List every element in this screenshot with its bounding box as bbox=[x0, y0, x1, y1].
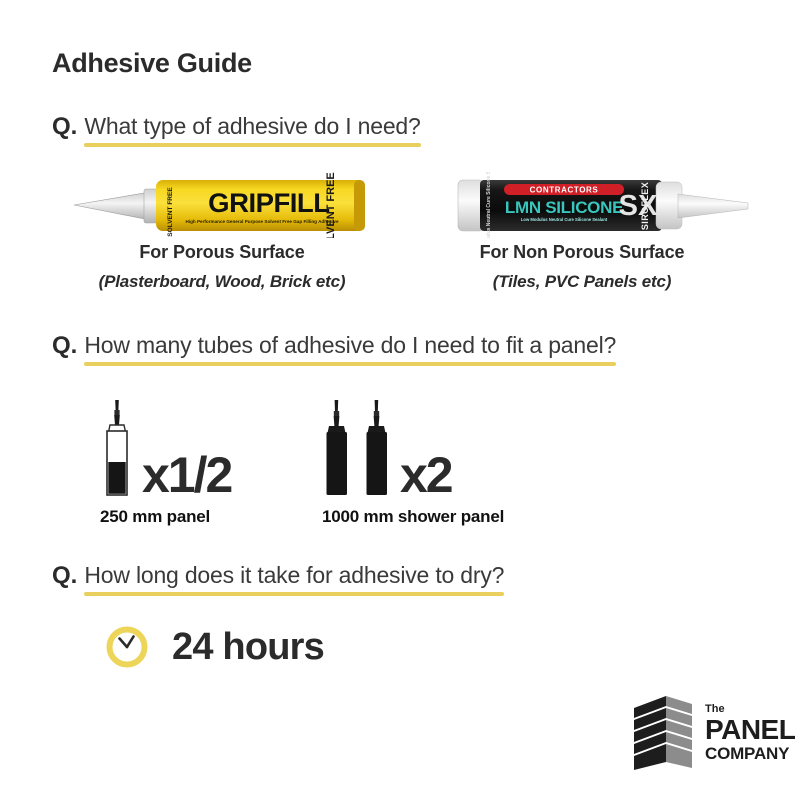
clock-icon bbox=[104, 624, 150, 670]
question-3: Q. How long does it take for adhesive to… bbox=[52, 562, 504, 596]
logo-panel-text: PANEL bbox=[705, 716, 795, 744]
lmn-silicone-tube-image: Low Modulus Neutral Cure Silicone Sealan… bbox=[452, 172, 752, 238]
quantity-row: x2 bbox=[322, 398, 504, 498]
quantity-caption: 250 mm panel bbox=[100, 507, 231, 527]
porous-surface-caption: For Porous Surface (Plasterboard, Wood, … bbox=[42, 242, 402, 292]
nonporous-surface-label: For Non Porous Surface bbox=[402, 242, 762, 263]
question-underline bbox=[84, 362, 616, 366]
silicone-product-name-text: LMN SILICONE bbox=[505, 198, 623, 217]
question-marker: Q. bbox=[52, 113, 77, 141]
question-text-wrap: How long does it take for adhesive to dr… bbox=[84, 562, 504, 596]
question-marker: Q. bbox=[52, 332, 77, 360]
gripfill-side-text: SOLVENT FREE bbox=[167, 187, 174, 237]
adhesive-guide-page: Adhesive Guide Q. What type of adhesive … bbox=[0, 0, 800, 800]
siroflex-sx-mark: SX bbox=[619, 190, 658, 222]
silicone-side-text: Low Modulus Neutral Cure Silicone Sealan… bbox=[486, 172, 492, 238]
gripfill-fineprint-text: High Performance General Purpose Solvent… bbox=[186, 219, 339, 224]
quantity-group-half-tube: x1/2 250 mm panel bbox=[100, 398, 231, 527]
question-text: How many tubes of adhesive do I need to … bbox=[84, 332, 616, 358]
question-text-wrap: What type of adhesive do I need? bbox=[84, 113, 420, 147]
silicone-brand-banner-text: CONTRACTORS bbox=[530, 186, 599, 195]
porous-surface-examples: (Plasterboard, Wood, Brick etc) bbox=[42, 272, 402, 292]
question-underline bbox=[84, 143, 420, 147]
adhesive-product-row: SOLVENT FREE GRIPFILL SOLVENT FREE High … bbox=[0, 172, 800, 238]
quantity-caption: 1000 mm shower panel bbox=[322, 507, 504, 527]
nonporous-surface-caption: For Non Porous Surface (Tiles, PVC Panel… bbox=[402, 242, 762, 292]
quantity-group-two-tubes: x2 1000 mm shower panel bbox=[322, 398, 504, 527]
quantity-row: x1/2 bbox=[100, 398, 231, 498]
question-2: Q. How many tubes of adhesive do I need … bbox=[52, 332, 616, 366]
porous-surface-label: For Porous Surface bbox=[42, 242, 402, 263]
question-text: How long does it take for adhesive to dr… bbox=[84, 562, 504, 588]
half-filled-tube-icon bbox=[100, 398, 134, 498]
full-tube-icon bbox=[362, 398, 392, 498]
question-text: What type of adhesive do I need? bbox=[84, 113, 420, 139]
question-underline bbox=[84, 592, 504, 596]
question-text-wrap: How many tubes of adhesive do I need to … bbox=[84, 332, 616, 366]
quantity-multiplier: x2 bbox=[400, 452, 452, 498]
stacked-panels-icon bbox=[632, 694, 696, 772]
tube-icon-set bbox=[100, 398, 134, 498]
question-marker: Q. bbox=[52, 562, 77, 590]
page-title: Adhesive Guide bbox=[52, 48, 252, 79]
drying-time-text: 24 hours bbox=[172, 626, 324, 669]
quantity-multiplier: x1/2 bbox=[142, 452, 231, 498]
drying-time-answer: 24 hours bbox=[104, 624, 324, 670]
gripfill-brand-text: GRIPFILL bbox=[208, 187, 329, 218]
brand-logo: The PANEL COMPANY bbox=[632, 694, 795, 772]
gripfill-tube-image: SOLVENT FREE GRIPFILL SOLVENT FREE High … bbox=[72, 172, 372, 238]
question-1: Q. What type of adhesive do I need? bbox=[52, 113, 421, 147]
logo-company-text: COMPANY bbox=[705, 745, 795, 762]
logo-wordmark: The PANEL COMPANY bbox=[705, 704, 795, 762]
nonporous-surface-examples: (Tiles, PVC Panels etc) bbox=[402, 272, 762, 292]
tube-icon-set bbox=[322, 398, 392, 498]
full-tube-icon bbox=[322, 398, 352, 498]
gripfill-tagline-text: SOLVENT FREE bbox=[325, 172, 337, 238]
silicone-fineprint-text: Low Modulus Neutral Cure Silicone Sealan… bbox=[521, 217, 608, 222]
